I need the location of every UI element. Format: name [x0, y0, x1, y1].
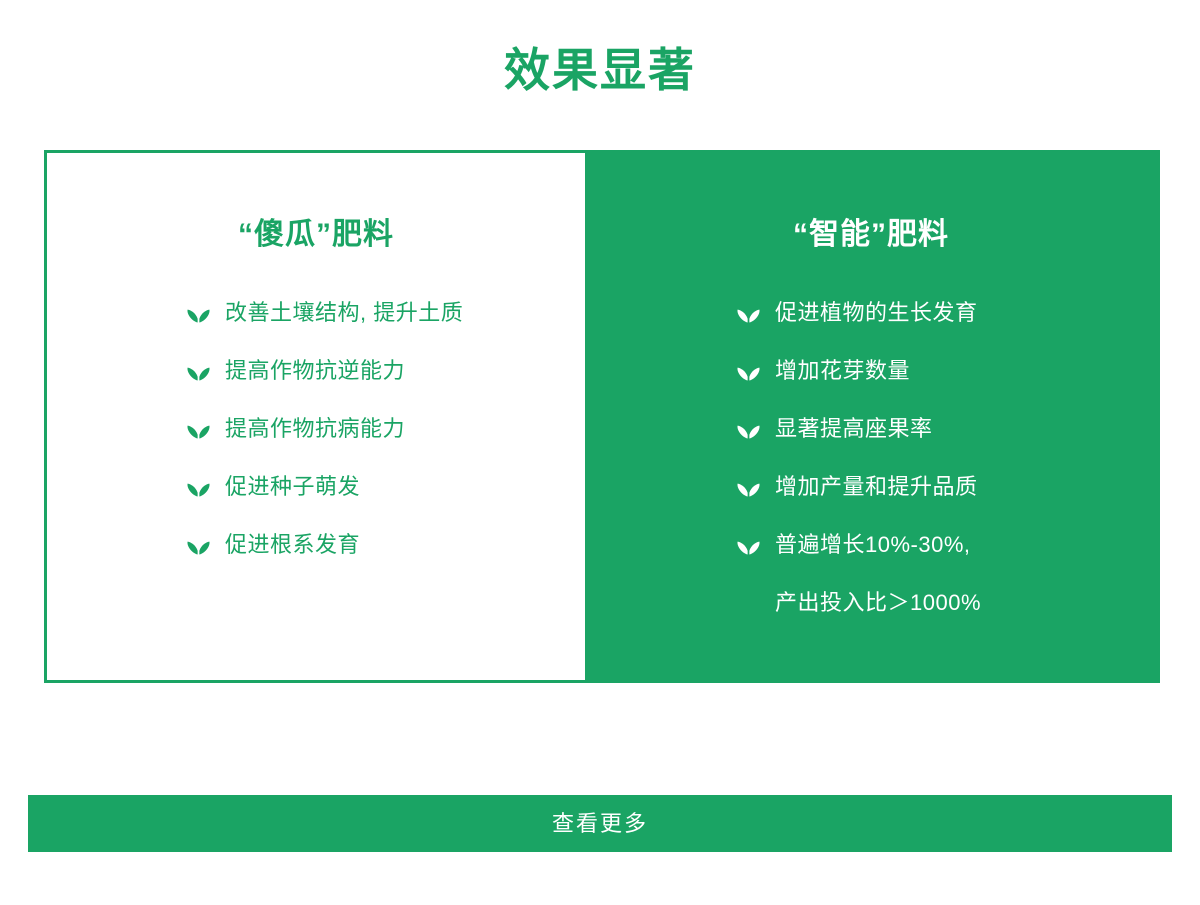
list-item-line-2: 产出投入比＞1000%	[775, 587, 981, 618]
leaf-icon	[187, 418, 210, 441]
list-item: 提高作物抗病能力	[187, 413, 463, 444]
list-item: 促进根系发育	[187, 529, 463, 560]
leaf-icon	[187, 476, 210, 499]
list-item: 增加产量和提升品质	[737, 471, 981, 502]
list-item-line: 增加产量和提升品质	[775, 474, 978, 499]
list-item-label: 促进植物的生长发育	[775, 297, 978, 328]
right-column-title: “智能”肥料	[585, 220, 1157, 250]
leaf-icon	[737, 302, 760, 325]
comparison-column-left: “傻瓜”肥料 改善土壤结构, 提升土质	[47, 153, 585, 680]
leaf-icon	[187, 360, 210, 383]
list-item-label: 增加花芽数量	[775, 355, 910, 386]
list-item-label: 提高作物抗逆能力	[225, 355, 405, 386]
left-column-title: “傻瓜”肥料	[47, 220, 585, 250]
list-item-label: 普遍增长10%-30%, 产出投入比＞1000%	[775, 529, 981, 618]
view-more-button[interactable]: 查看更多	[28, 795, 1172, 852]
page-title: 效果显著	[0, 47, 1200, 93]
list-item: 促进植物的生长发育	[737, 297, 981, 328]
list-item: 普遍增长10%-30%, 产出投入比＞1000%	[737, 529, 981, 618]
leaf-icon	[737, 418, 760, 441]
left-feature-list: 改善土壤结构, 提升土质 提高作物抗逆能力	[187, 297, 463, 587]
list-item-label: 提高作物抗病能力	[225, 413, 405, 444]
leaf-icon	[737, 534, 760, 557]
list-item: 提高作物抗逆能力	[187, 355, 463, 386]
list-item-line: 改善土壤结构, 提升土质	[225, 300, 463, 325]
leaf-icon	[187, 534, 210, 557]
list-item: 促进种子萌发	[187, 471, 463, 502]
list-item-line: 增加花芽数量	[775, 358, 910, 383]
list-item-line: 促进种子萌发	[225, 474, 360, 499]
list-item-label: 改善土壤结构, 提升土质	[225, 297, 463, 328]
comparison-column-right: “智能”肥料 促进植物的生长发育	[585, 153, 1157, 680]
list-item-label: 显著提高座果率	[775, 413, 933, 444]
list-item-line: 提高作物抗病能力	[225, 416, 405, 441]
list-item-line: 促进根系发育	[225, 532, 360, 557]
list-item-label: 促进根系发育	[225, 529, 360, 560]
list-item: 显著提高座果率	[737, 413, 981, 444]
list-item: 改善土壤结构, 提升土质	[187, 297, 463, 328]
leaf-icon	[187, 302, 210, 325]
list-item-label: 增加产量和提升品质	[775, 471, 978, 502]
list-item-line: 显著提高座果率	[775, 416, 933, 441]
right-feature-list: 促进植物的生长发育 增加花芽数量	[737, 297, 981, 645]
view-more-label: 查看更多	[552, 813, 648, 835]
list-item-line: 普遍增长10%-30%,	[775, 532, 971, 557]
list-item-line: 提高作物抗逆能力	[225, 358, 405, 383]
comparison-panel: “傻瓜”肥料 改善土壤结构, 提升土质	[44, 150, 1160, 683]
leaf-icon	[737, 360, 760, 383]
leaf-icon	[737, 476, 760, 499]
list-item-label: 促进种子萌发	[225, 471, 360, 502]
list-item-line: 促进植物的生长发育	[775, 300, 978, 325]
list-item: 增加花芽数量	[737, 355, 981, 386]
